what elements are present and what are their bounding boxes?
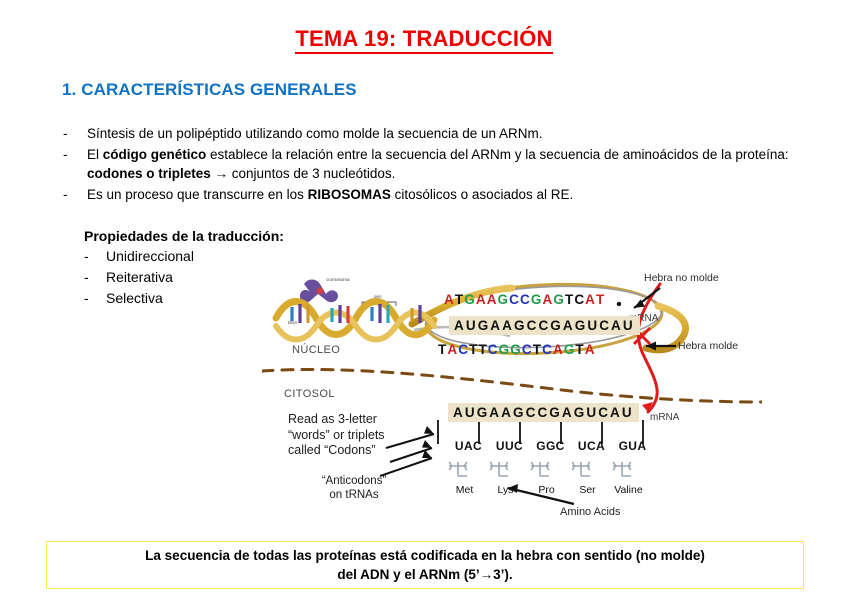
dna-base: A (553, 342, 564, 357)
dna-base: G (553, 292, 565, 307)
anticodon-note-line-2: on tRNAs (294, 488, 414, 502)
dna-base: G (510, 342, 522, 357)
template-strand-label: Hebra molde (678, 340, 738, 352)
dna-base: A (487, 292, 498, 307)
dna-base: G (464, 292, 476, 307)
dna-base: A (585, 292, 596, 307)
property-label: Unidireccional (106, 246, 284, 267)
dna-base: C (574, 292, 585, 307)
dna-base: G (498, 292, 510, 307)
amino-acids-label: Amino Acids (560, 506, 621, 518)
dna-base: A (447, 342, 458, 357)
amino-acid: Lys (485, 484, 526, 496)
property-marker: - (84, 246, 106, 267)
amino-acid: Ser (567, 484, 608, 496)
bullet-marker: - (60, 185, 87, 204)
arrow-codons-2-head (422, 440, 432, 448)
property-label: Selectiva (106, 288, 284, 309)
properties-items: -Unidireccional-Reiterativa-Selectiva (84, 246, 284, 309)
dna-base: A (444, 292, 455, 307)
bullet-item: -Es un proceso que transcurre en los RIB… (60, 185, 800, 204)
nucleus-label: NÚCLEO (292, 344, 340, 356)
cytosol-label: CITOSOL (284, 388, 335, 400)
bullet-list: -Síntesis de un polipéptido utilizando c… (60, 124, 800, 206)
conclusion-box: La secuencia de todas las proteínas está… (46, 541, 804, 589)
property-marker: - (84, 288, 106, 309)
dna-base: A (542, 292, 553, 307)
anticodon: UCA (571, 439, 612, 453)
non-template-strand-label: Hebra no molde (644, 272, 719, 284)
anticodon-note: “Anticodons” on tRNAs (294, 474, 414, 502)
anticodon-row: UACUUCGGCUCAGUA (448, 439, 653, 453)
section-heading: 1. CARACTERÍSTICAS GENERALES (62, 80, 357, 100)
property-item: -Reiterativa (84, 267, 284, 288)
dna-base: G (531, 292, 543, 307)
dna-base: T (438, 342, 447, 357)
property-marker: - (84, 267, 106, 288)
dna-base: T (533, 342, 542, 357)
dna-base: A (585, 342, 596, 357)
dna-base: T (455, 292, 464, 307)
dna-base: C (522, 342, 533, 357)
slide-page: TEMA 19: TRADUCCIÓN 1. CARACTERÍSTICAS G… (0, 0, 848, 599)
codon-note-line: called “Codons” (288, 443, 385, 459)
dna-base: C (509, 292, 520, 307)
anticodon-note-line-1: “Anticodons” (294, 474, 414, 488)
chromosome-icon (300, 280, 338, 303)
mrna-cytosol-sequence: AUGAAGCCGAGUCAU (448, 403, 639, 422)
anticodon: GGC (530, 439, 571, 453)
conclusion-line-1: La secuencia de todas las proteínas está… (145, 548, 705, 563)
page-title-text: TEMA 19: TRADUCCIÓN (295, 26, 552, 54)
bullet-text: Es un proceso que transcurre en los RIBO… (87, 185, 800, 204)
anticodon: UAC (448, 439, 489, 453)
bullet-text: Síntesis de un polipéptido utilizando co… (87, 124, 800, 143)
dna-top-strand: ATGAAGCCGAGTCAT (444, 292, 605, 307)
bullet-marker: - (60, 145, 87, 183)
bullet-item: -El código genético establece la relació… (60, 145, 800, 183)
dna-base: C (488, 342, 499, 357)
trna-shapes (449, 462, 631, 476)
dna-base: C (458, 342, 469, 357)
dna-base: C (542, 342, 553, 357)
dna-base: T (565, 292, 574, 307)
dna-base: T (575, 342, 584, 357)
dna-helix-illustration: cromosoma DNA gen (270, 274, 440, 346)
dna-bottom-strand: TACTTCGGCTCAGTA (438, 342, 596, 357)
dot-marker (617, 302, 621, 306)
bullet-text: El código genético establece la relación… (87, 145, 800, 183)
properties-title: Propiedades de la traducción: (84, 228, 284, 244)
mrna-cytosol-label: mRNA (650, 412, 679, 423)
anticodon: UUC (489, 439, 530, 453)
dna-base: G (564, 342, 576, 357)
conclusion-line-2: del ADN y el ARNm (5’→3’). (337, 567, 512, 582)
dna-base: C (520, 292, 531, 307)
dna-base: T (469, 342, 478, 357)
dna-base: A (476, 292, 487, 307)
arrow-codons-1-head (424, 426, 434, 434)
properties-block: Propiedades de la traducción: -Unidirecc… (84, 228, 284, 309)
translation-diagram: cromosoma DNA gen (262, 266, 762, 531)
codon-note-line: Read as 3-letter (288, 412, 385, 428)
svg-text:cromosoma: cromosoma (326, 277, 350, 282)
page-title: TEMA 19: TRADUCCIÓN (0, 26, 848, 52)
property-item: -Selectiva (84, 288, 284, 309)
property-item: -Unidireccional (84, 246, 284, 267)
nuclear-membrane-line (262, 369, 762, 402)
anticodon: GUA (612, 439, 653, 453)
mrna-nucleus-sequence: AUGAAGCCGAGUCAU (449, 316, 640, 335)
property-label: Reiterativa (106, 267, 284, 288)
dna-base: T (596, 292, 605, 307)
dna-base: T (478, 342, 487, 357)
amino-acid: Valine (608, 484, 649, 496)
amino-acid: Met (444, 484, 485, 496)
bullet-item: -Síntesis de un polipéptido utilizando c… (60, 124, 800, 143)
amino-acid: Pro (526, 484, 567, 496)
amino-acid-row: MetLysProSerValine (444, 484, 649, 496)
bullet-marker: - (60, 124, 87, 143)
codon-note-line: “words” or triplets (288, 428, 385, 444)
codon-note: Read as 3-letter“words” or tripletscalle… (288, 412, 385, 459)
dna-base: G (499, 342, 511, 357)
